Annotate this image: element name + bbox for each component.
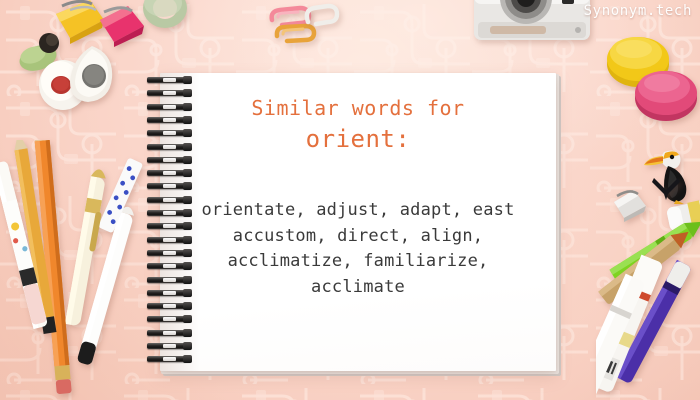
spiral-ring [147,90,191,96]
eraser-white-right-icon [62,44,120,106]
tape-ring-green-icon [138,0,196,32]
site-logo: Synonym.tech [584,3,692,19]
spiral-ring [147,77,191,83]
synonym-list: orientate, adjust, adapt, east accustom,… [178,198,538,300]
macaron-pink-icon [632,66,700,124]
spiral-ring [147,277,191,283]
notepad-page: Similar words for orient: orientate, adj… [160,73,556,371]
spiral-ring [147,223,191,229]
spiral-ring [147,303,191,309]
spiral-ring [147,157,191,163]
spiral-ring [147,104,191,110]
notepad: Similar words for orient: orientate, adj… [160,73,561,376]
spiral-ring [147,330,191,336]
screenshot-canvas: Similar words for orient: orientate, adj… [0,0,700,400]
paper-clip-white-icon [302,2,342,32]
query-word: orient: [306,124,411,154]
spiral-ring [147,343,191,349]
spiral-ring [147,290,191,296]
spiral-ring [147,144,191,150]
spiral-ring [147,316,191,322]
spiral-ring [147,210,191,216]
pens-and-pencils-group-icon [0,140,164,400]
spiral-ring [147,117,191,123]
spiral-binding [147,77,193,373]
spiral-ring [147,263,191,269]
camera-icon [468,0,598,52]
notepad-content: Similar words for orient: orientate, adj… [160,73,556,371]
ribbon-black-icon [650,176,684,202]
spiral-ring [147,170,191,176]
spiral-ring [147,356,191,362]
crayons-and-markers-group-icon [596,210,700,400]
spiral-ring [147,197,191,203]
spiral-ring [147,250,191,256]
spiral-ring [147,183,191,189]
page-title: Similar words for [251,95,464,121]
spiral-ring [147,237,191,243]
spiral-ring [147,130,191,136]
